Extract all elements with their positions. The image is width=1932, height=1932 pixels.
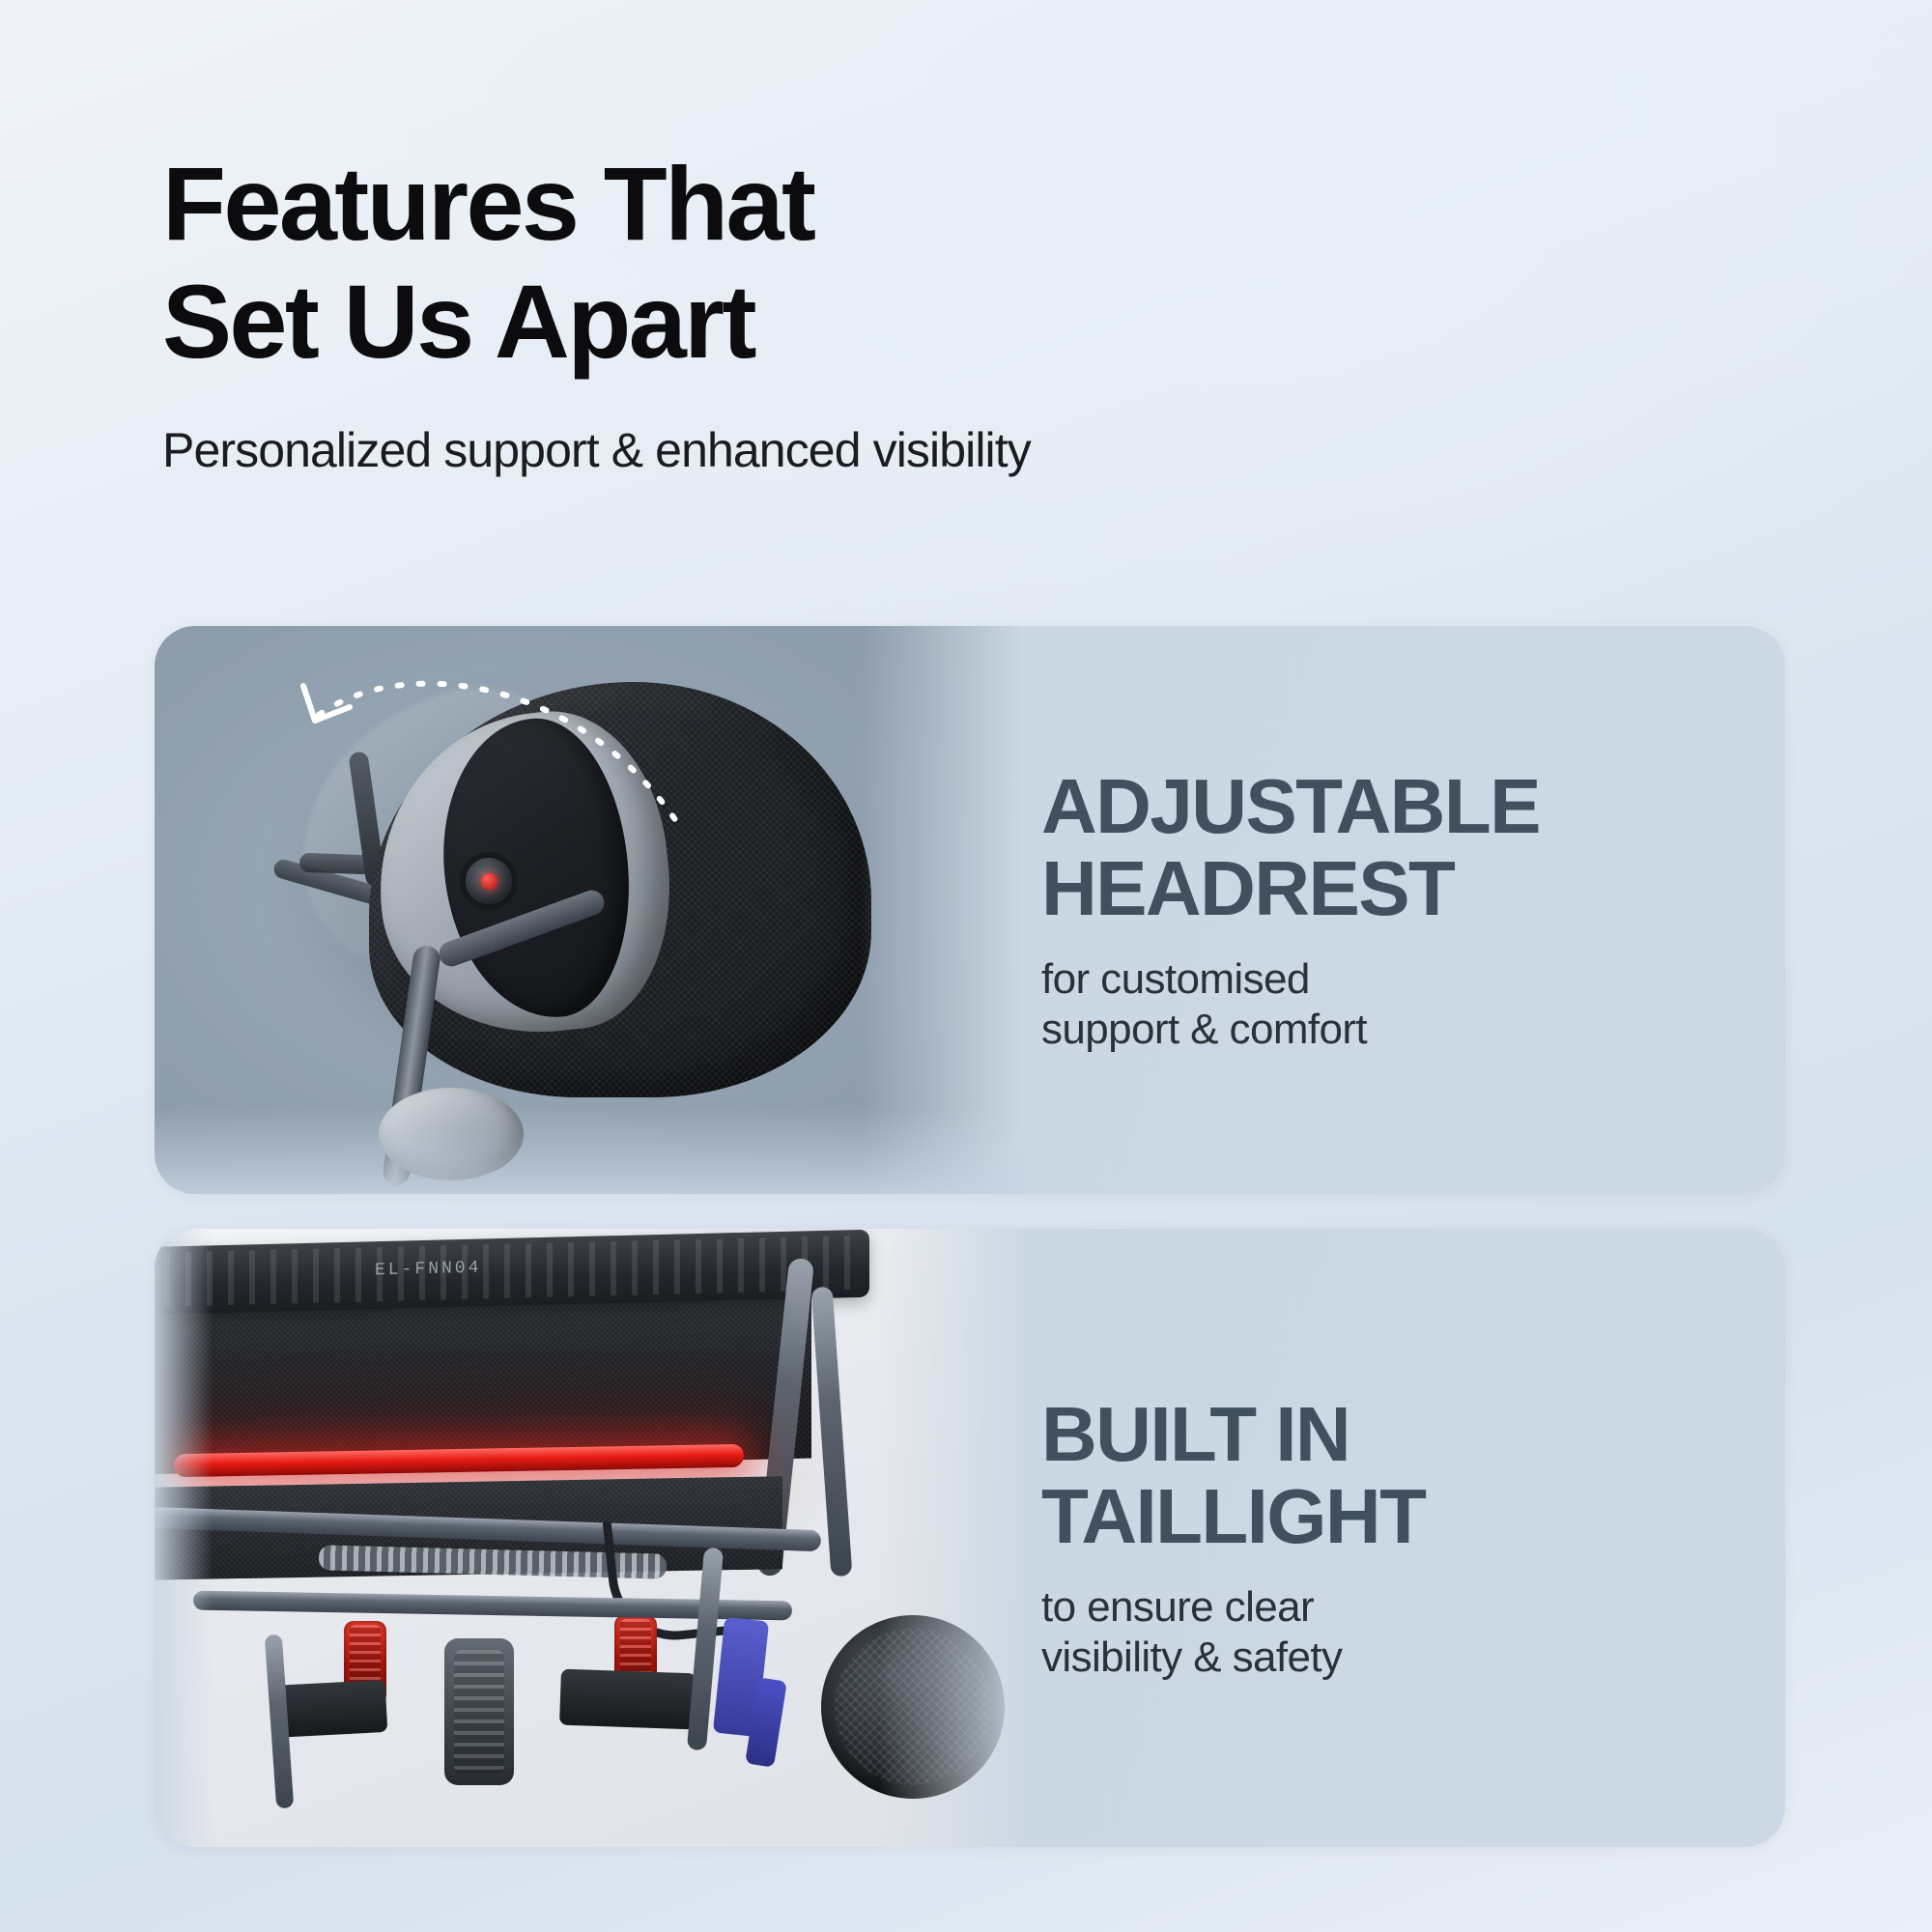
headrest-edge-fade-bottom — [155, 1107, 1024, 1194]
taillight-card-text: BUILT IN TAILLIGHT to ensure clear visib… — [1024, 1229, 1785, 1847]
taillight-edge-fade-left — [155, 1229, 213, 1847]
motor-housing-right — [559, 1669, 696, 1730]
page-title: Features That Set Us Apart — [162, 145, 1418, 381]
headrest-card-text: ADJUSTABLE HEADREST for customised suppo… — [1024, 626, 1785, 1194]
feature-subtitle-taillight: to ensure clear visibility & safety — [1041, 1582, 1785, 1682]
product-code-label: EL-FNN04 — [375, 1259, 481, 1281]
feature-subtitle-headrest: for customised support & comfort — [1041, 954, 1785, 1054]
page-header: Features That Set Us Apart Personalized … — [162, 145, 1418, 479]
promo-page: Features That Set Us Apart Personalized … — [0, 0, 1932, 1932]
feature-title-headrest: ADJUSTABLE HEADREST — [1041, 766, 1785, 930]
taillight-edge-fade-right — [879, 1229, 1024, 1847]
page-subtitle: Personalized support & enhanced visibili… — [162, 421, 1418, 479]
feature-title-taillight: BUILT IN TAILLIGHT — [1041, 1394, 1785, 1558]
feature-card-built-in-taillight: EL-FNN04 BUILT IN TAILLIGHT to ensure — [155, 1229, 1785, 1847]
feature-card-adjustable-headrest: ADJUSTABLE HEADREST for customised suppo… — [155, 626, 1785, 1194]
rotation-arrow-icon — [290, 647, 724, 898]
taillight-photo: EL-FNN04 — [155, 1229, 1024, 1847]
headrest-photo — [155, 626, 1024, 1194]
footrest-pedal — [444, 1638, 514, 1785]
